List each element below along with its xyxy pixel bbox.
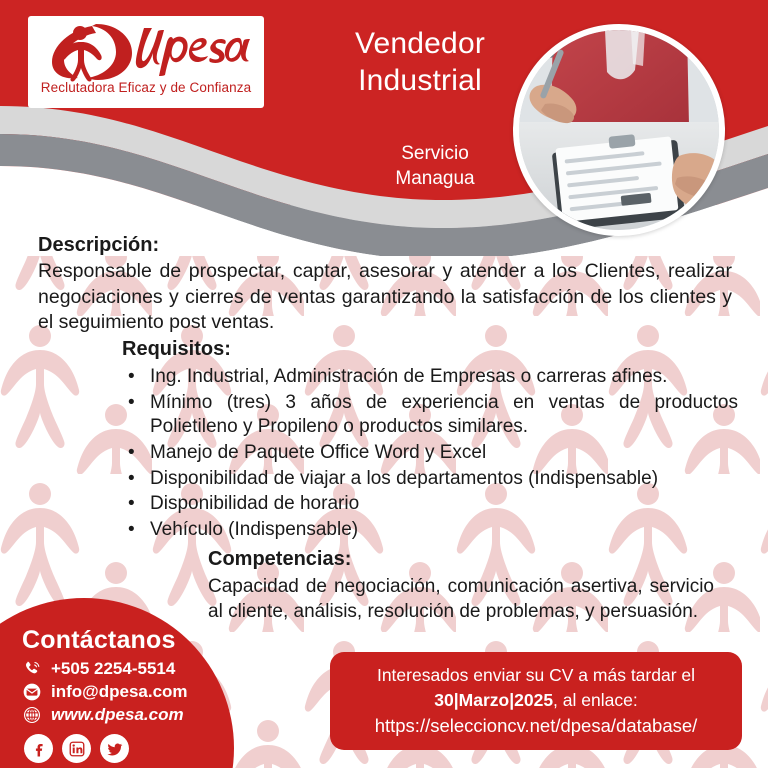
requirement-text: Mínimo (tres) 3 años de experiencia en v… — [150, 392, 738, 438]
contact-website-row[interactable]: www.dpesa.com — [22, 705, 252, 725]
requirement-text: Manejo de Paquete Office Word y Excel — [150, 442, 486, 463]
description-section: Descripción: Responsable de prospectar, … — [38, 234, 732, 336]
website-url: www.dpesa.com — [51, 705, 184, 725]
competencies-text: Capacidad de negociación, comunicación a… — [208, 574, 714, 624]
list-item: • Disponibilidad de horario — [122, 492, 738, 517]
facebook-glyph — [30, 740, 48, 758]
contact-section: Contáctanos +505 2254-5514 info@dpesa.co… — [22, 626, 252, 763]
email-address: info@dpesa.com — [51, 682, 188, 702]
cta-url[interactable]: https://seleccioncv.net/dpesa/database/ — [375, 713, 698, 739]
phone-icon — [22, 659, 42, 679]
competencies-section: Competencias: Capacidad de negociación, … — [208, 548, 714, 624]
bullet-icon: • — [128, 365, 135, 390]
cta-line-2-rest: , al enlace: — [553, 690, 638, 710]
description-heading: Descripción: — [38, 234, 732, 257]
social-links — [24, 734, 252, 763]
contact-phone-row[interactable]: +505 2254-5514 — [22, 659, 252, 679]
contact-heading: Contáctanos — [22, 626, 252, 655]
requirement-text: Ing. Industrial, Administración de Empre… — [150, 366, 667, 387]
linkedin-glyph — [68, 740, 86, 758]
bullet-icon: • — [128, 518, 135, 543]
requirements-section: Requisitos: • Ing. Industrial, Administr… — [122, 338, 738, 544]
requirement-text: Disponibilidad de horario — [150, 493, 359, 514]
requirement-text: Vehículo (Indispensable) — [150, 519, 358, 540]
description-text: Responsable de prospectar, captar, aseso… — [38, 259, 732, 336]
bullet-icon: • — [128, 492, 135, 517]
list-item: • Vehículo (Indispensable) — [122, 518, 738, 543]
apply-callout[interactable]: Interesados enviar su CV a más tardar el… — [330, 652, 742, 750]
requirement-text: Disponibilidad de viajar a los departame… — [150, 468, 658, 489]
globe-icon — [22, 705, 42, 725]
cta-deadline: 30|Marzo|2025 — [434, 690, 553, 710]
cta-line-1: Interesados enviar su CV a más tardar el — [377, 663, 695, 688]
contact-email-row[interactable]: info@dpesa.com — [22, 682, 252, 702]
email-icon — [22, 682, 42, 702]
phone-number: +505 2254-5514 — [51, 659, 175, 679]
job-poster: Reclutadora Eficaz y de Confianza Vended… — [0, 0, 768, 768]
twitter-icon[interactable] — [100, 734, 129, 763]
requirements-list: • Ing. Industrial, Administración de Emp… — [122, 365, 738, 543]
twitter-glyph — [106, 740, 124, 758]
linkedin-icon[interactable] — [62, 734, 91, 763]
bullet-icon: • — [128, 467, 135, 492]
requirements-heading: Requisitos: — [122, 338, 738, 361]
facebook-icon[interactable] — [24, 734, 53, 763]
competencies-heading: Competencias: — [208, 548, 714, 571]
list-item: • Manejo de Paquete Office Word y Excel — [122, 441, 738, 466]
cta-line-2: 30|Marzo|2025, al enlace: — [434, 688, 637, 713]
list-item: • Mínimo (tres) 3 años de experiencia en… — [122, 391, 738, 440]
list-item: • Disponibilidad de viajar a los departa… — [122, 467, 738, 492]
bullet-icon: • — [128, 441, 135, 466]
bullet-icon: • — [128, 391, 135, 416]
list-item: • Ing. Industrial, Administración de Emp… — [122, 365, 738, 390]
